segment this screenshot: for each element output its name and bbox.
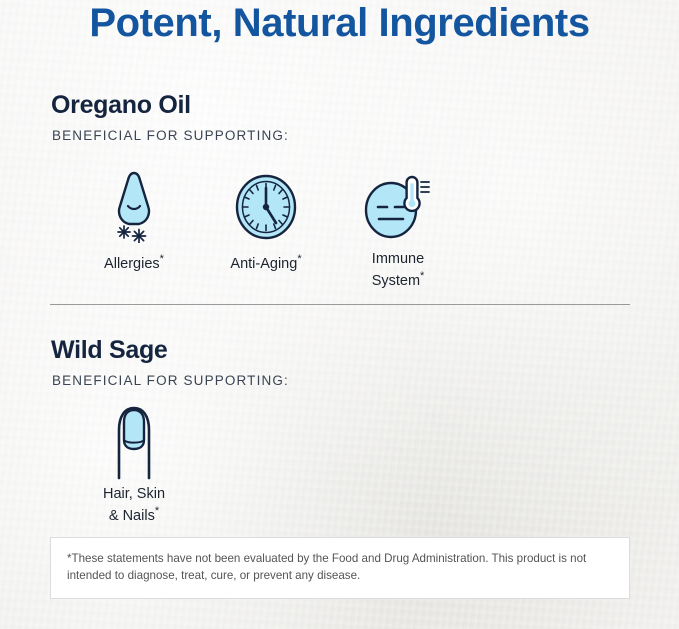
section-title-oregano-oil: Oregano Oil (51, 91, 191, 120)
asterisk-marker: * (420, 270, 424, 282)
finger-nail-icon (102, 400, 166, 480)
icon-row-wild-sage: Hair, Skin & Nails* (68, 400, 200, 525)
benefit-label-allergies: Allergies* (104, 251, 164, 273)
ingredients-infographic: Potent, Natural Ingredients Oregano Oil … (0, 0, 679, 629)
benefit-label-anti-aging: Anti-Aging* (230, 251, 301, 273)
disclaimer-text: *These statements have not been evaluate… (67, 552, 586, 582)
disclaimer-box: *These statements have not been evaluate… (50, 537, 630, 599)
section-subtitle-oregano-oil: BENEFICIAL FOR SUPPORTING: (52, 128, 289, 143)
benefit-label-hair-skin-nails: Hair, Skin & Nails* (103, 486, 165, 525)
benefit-item-immune-system: Immune System* (332, 165, 464, 290)
benefit-item-hair-skin-nails: Hair, Skin & Nails* (68, 400, 200, 525)
benefit-label-immune-system: Immune System* (372, 251, 425, 290)
clock-anti-aging-icon (231, 165, 301, 243)
section-divider (50, 304, 630, 305)
benefit-item-anti-aging: Anti-Aging* (200, 165, 332, 290)
asterisk-marker: * (155, 505, 159, 517)
asterisk-marker: * (160, 253, 164, 265)
page-title: Potent, Natural Ingredients (0, 1, 679, 46)
benefit-label-text: Allergies (104, 256, 160, 272)
nose-allergies-icon (101, 165, 167, 243)
benefit-label-text: Immune System (372, 251, 425, 289)
section-title-wild-sage: Wild Sage (51, 336, 168, 365)
benefit-label-text: Anti-Aging (230, 256, 297, 272)
benefit-item-allergies: Allergies* (68, 165, 200, 290)
sick-face-thermometer-icon (359, 165, 437, 243)
icon-row-oregano-oil: Allergies* (68, 165, 464, 290)
section-subtitle-wild-sage: BENEFICIAL FOR SUPPORTING: (52, 373, 289, 388)
asterisk-marker: * (297, 253, 301, 265)
